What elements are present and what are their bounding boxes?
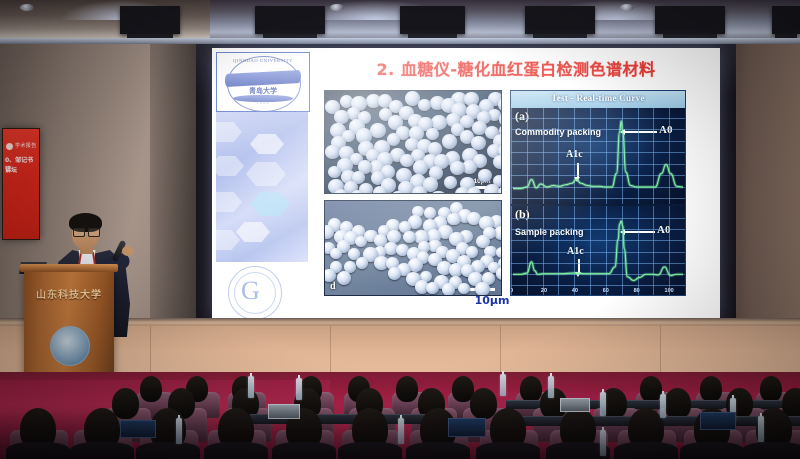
- water-bottle: [548, 376, 554, 398]
- audience-head: [520, 376, 542, 402]
- microsphere: [355, 236, 367, 248]
- microsphere: [324, 225, 334, 239]
- audience-head: [396, 376, 418, 402]
- hexagon-shape: [246, 162, 286, 186]
- logo-year: 1909: [217, 100, 309, 105]
- slide-logo-strip: QINGDAO UNIVERSITY 青岛大学 1909 G: [216, 52, 308, 314]
- microsphere: [334, 110, 349, 124]
- microsphere: [430, 191, 446, 194]
- chart-title: Test - Real-time Curve: [511, 93, 685, 103]
- university-seal-icon: G: [228, 266, 282, 320]
- wall-banner: 学术报告 0、邹记书记 讲坛: [2, 128, 40, 240]
- water-bottle: [296, 378, 302, 400]
- microsphere: [496, 267, 502, 279]
- chromatogram-trace: [511, 206, 685, 295]
- microsphere: [484, 184, 500, 194]
- chart-panel-b: (b) Sample packing A0 A1c 020406080100: [511, 206, 685, 295]
- hexagon-shape: [216, 192, 242, 212]
- water-bottle: [500, 374, 506, 396]
- audience-head: [760, 376, 782, 402]
- microsphere: [351, 190, 364, 194]
- microsphere: [426, 128, 439, 141]
- banner-line-3: 讲坛: [5, 165, 17, 174]
- microsphere: [442, 134, 457, 149]
- microsphere: [424, 207, 436, 219]
- microsphere: [324, 269, 336, 282]
- microsphere: [413, 160, 428, 175]
- micrograph-panel-label: d: [330, 281, 336, 292]
- microsphere: [426, 282, 439, 294]
- podium-top-surface: [20, 264, 118, 272]
- hexagon-shape: [236, 222, 270, 242]
- chromatogram-chart: Test - Real-time Curve (a) Commodity pac…: [510, 90, 686, 296]
- sem-micrograph-d: d 10μm: [324, 200, 502, 296]
- audience-head: [700, 376, 722, 402]
- microsphere: [373, 186, 387, 194]
- hexagon-shape: [250, 192, 290, 216]
- podium: 山东科技大学: [24, 270, 114, 378]
- microsphere: [328, 166, 341, 179]
- microsphere: [325, 145, 340, 159]
- microsphere: [418, 99, 431, 111]
- microsphere: [330, 248, 342, 259]
- microsphere: [450, 161, 465, 175]
- slide-title: 2. 血糖仪-糖化血红蛋白检测色谱材料: [316, 56, 716, 80]
- ceiling-speaker-box: [255, 6, 325, 34]
- microsphere: [493, 155, 502, 170]
- audience-head: [640, 376, 662, 402]
- university-logo: QINGDAO UNIVERSITY 青岛大学 1909: [216, 52, 310, 112]
- microsphere: [356, 257, 368, 269]
- microsphere: [391, 191, 404, 194]
- banner-line-1: 学术报告: [15, 142, 37, 149]
- podium-institution-text: 山东科技大学: [24, 286, 114, 301]
- seal-letter: G: [241, 278, 267, 306]
- audience-head: [140, 376, 162, 402]
- ceiling-spotlight: [20, 4, 34, 11]
- ceiling-speaker-box: [655, 6, 725, 34]
- hexagon-shape: [216, 122, 242, 142]
- microsphere: [496, 247, 502, 258]
- ceiling-speaker-box: [772, 6, 800, 34]
- banner-logo-icon: [6, 143, 13, 150]
- microsphere: [412, 186, 427, 194]
- microsphere: [370, 123, 386, 138]
- chart-panel-a: (a) Commodity packing A0 A1c: [511, 108, 685, 204]
- hexagon-shape: [216, 156, 244, 176]
- chromatogram-trace: [511, 108, 685, 204]
- microsphere: [478, 169, 491, 182]
- projection-screen-slide: 2. 血糖仪-糖化血红蛋白检测色谱材料 QINGDAO UNIVERSITY 青…: [212, 48, 720, 320]
- sem-micrograph-a: a 10μm: [324, 90, 502, 194]
- microsphere: [337, 271, 351, 285]
- microsphere: [444, 176, 457, 189]
- auditorium-photo: 学术报告 0、邹记书记 讲坛 2. 血糖仪-糖化血红蛋白检测色谱材料 QINGD…: [0, 0, 800, 459]
- hexagon-shape: [250, 134, 284, 154]
- microsphere: [403, 231, 416, 243]
- speaker-hand: [122, 246, 133, 256]
- microsphere: [387, 230, 400, 243]
- microsphere: [447, 213, 460, 226]
- ceiling-speaker-box: [400, 6, 465, 34]
- microsphere: [458, 283, 470, 294]
- microsphere: [400, 154, 414, 167]
- slide-footer-scale: 10μm: [362, 294, 622, 307]
- glasses-icon: [73, 228, 98, 235]
- foreground-shadow: [0, 404, 800, 459]
- ceiling-spotlight: [620, 4, 634, 11]
- podium-seal-icon: [50, 326, 90, 366]
- microsphere: [388, 267, 401, 280]
- hexagon-shape: [216, 230, 240, 250]
- ceiling-speaker-box: [525, 6, 595, 34]
- water-bottle: [248, 376, 254, 398]
- ceiling-spotlight: [330, 4, 344, 11]
- chart-title-band: Test - Real-time Curve: [511, 91, 685, 108]
- ceiling-speaker-box: [120, 6, 180, 34]
- hexagon-decoration-panel: [216, 112, 308, 262]
